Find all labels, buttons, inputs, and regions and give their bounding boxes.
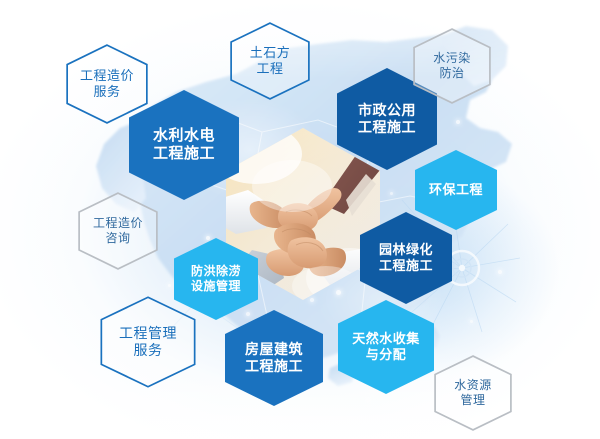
- particle-dot: [206, 236, 210, 240]
- hexagon-label-group: 工程管理服务: [119, 296, 177, 388]
- particle-dot: [456, 120, 460, 124]
- hexagon-label-line: 防洪除涝: [191, 264, 241, 279]
- hexagon-label-line: 天然水收集: [352, 331, 420, 347]
- hexagon-label-line: 工程管理: [119, 325, 177, 342]
- hexagon-label-line: 园林绿化: [379, 242, 433, 258]
- hex-engineering-management-service[interactable]: 工程管理服务: [100, 296, 196, 388]
- hexagon-label-line: 水资源: [454, 378, 492, 393]
- particle-dot: [246, 312, 250, 316]
- hexagon-label-line: 防治: [439, 66, 464, 81]
- hexagon-label-line: 工程: [256, 61, 283, 77]
- hex-earthwork-engineering[interactable]: 土石方工程: [230, 22, 310, 100]
- hexagon-label-line: 水污染: [433, 51, 471, 66]
- particle-dot: [336, 290, 341, 295]
- hexagon-label-line: 与分配: [366, 347, 407, 363]
- hexagon-label-line: 工程施工: [358, 119, 416, 136]
- particle-dot: [366, 398, 370, 402]
- infographic-canvas: 工程造价服务土石方工程水利水电工程施工市政公用工程施工水污染防治环保工程工程造价…: [0, 0, 600, 439]
- hexagon-label-line: 设施管理: [191, 279, 241, 294]
- hexagon-label-line: 工程造价: [93, 216, 143, 231]
- hex-water-resource-management[interactable]: 水资源管理: [434, 355, 512, 431]
- hexagon-label-group: 工程造价咨询: [93, 192, 143, 270]
- hexagon-label-line: 工程施工: [245, 358, 303, 375]
- hexagon-label-line: 市政公用: [358, 102, 416, 119]
- hexagon-label-line: 管理: [460, 393, 485, 408]
- hexagon-label-line: 工程造价: [80, 68, 134, 84]
- particle-dot: [310, 298, 314, 302]
- hexagon-label-group: 工程造价服务: [80, 44, 134, 124]
- hexagon-label-line: 服务: [134, 342, 163, 359]
- hexagon-label-line: 土石方: [250, 45, 291, 61]
- hexagon-label-line: 房屋建筑: [245, 341, 303, 358]
- particle-dot: [390, 192, 393, 195]
- hexagon-label-group: 水污染防治: [433, 28, 471, 104]
- particle-dot: [168, 284, 171, 287]
- hexagon-label-group: 水资源管理: [454, 355, 492, 431]
- hexagon-label-line: 工程施工: [153, 145, 215, 163]
- particle-dot: [470, 320, 473, 323]
- particle-dot: [498, 270, 502, 274]
- hex-water-pollution-control[interactable]: 水污染防治: [413, 28, 491, 104]
- hexagon-label-line: 水利水电: [153, 127, 215, 145]
- hexagon-label-line: 工程施工: [379, 258, 433, 274]
- hexagon-label-line: 咨询: [105, 231, 130, 246]
- hexagon-label-line: 环保工程: [429, 182, 483, 198]
- hex-engineering-cost-consulting[interactable]: 工程造价咨询: [78, 192, 158, 270]
- hexagon-label-group: 土石方工程: [250, 22, 291, 100]
- hex-engineering-cost-service[interactable]: 工程造价服务: [66, 44, 148, 124]
- hexagon-label-line: 服务: [93, 84, 120, 100]
